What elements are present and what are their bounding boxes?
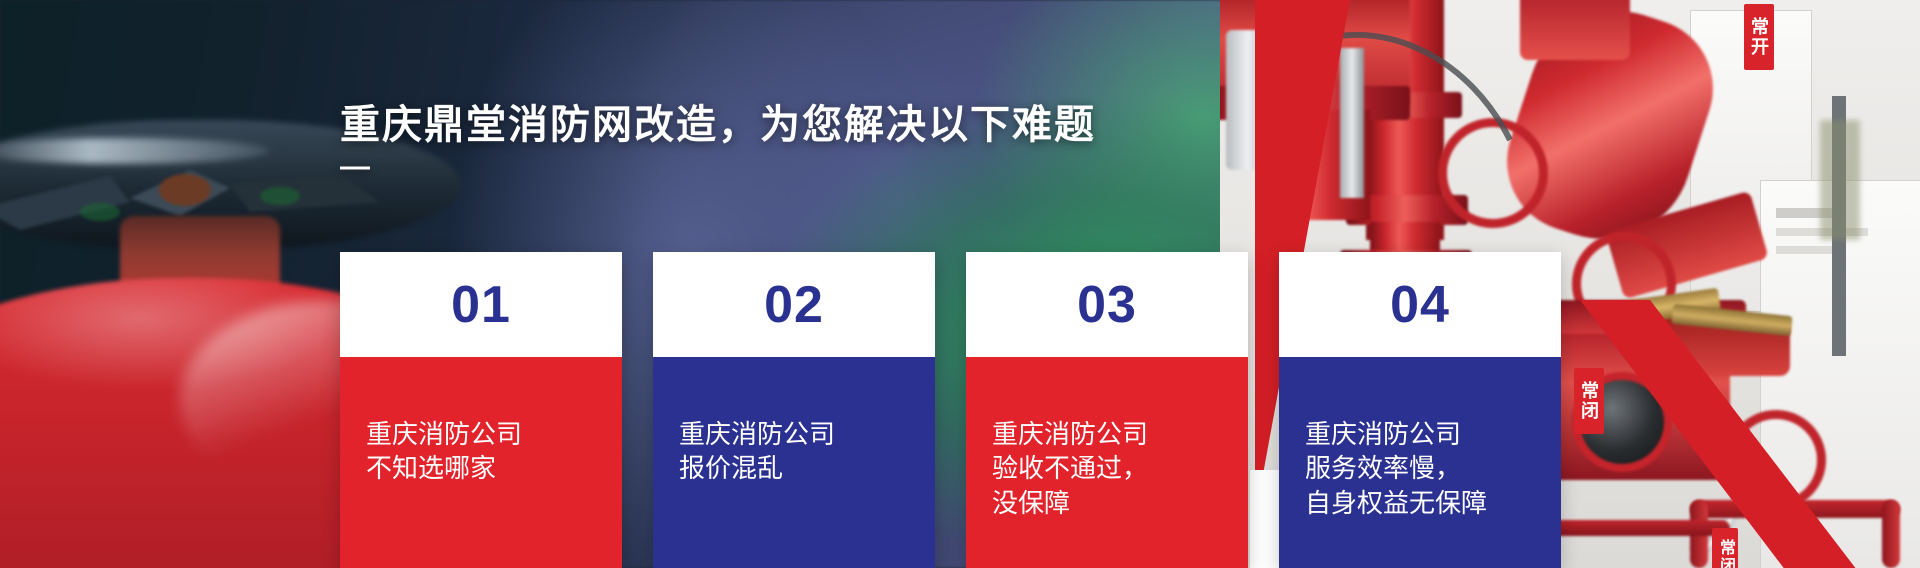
problem-card-list: 01 重庆消防公司 不知选哪家 02 重庆消防公司 报价混乱 03 重庆消防公司… [340, 252, 1580, 568]
card-line: 没保障 [992, 486, 1222, 520]
card-line: 验收不通过， [992, 451, 1222, 485]
tag-normally-open: 常开 [1744, 4, 1774, 70]
problem-card-03[interactable]: 03 重庆消防公司 验收不通过， 没保障 [966, 252, 1248, 568]
conduit-wire [1310, 20, 1530, 180]
tag-normally-closed-2: 常闭 [1712, 528, 1738, 568]
card-number-01: 01 [340, 252, 622, 357]
tag-normally-closed: 常闭 [1574, 368, 1604, 434]
promo-banner: 常开 常开 常闭 常闭 重庆鼎堂消防网改造，为您解决以下难题 — 01 重庆消防… [0, 0, 1920, 568]
card-line: 重庆消防公司 [992, 417, 1222, 451]
card-line: 重庆消防公司 [366, 417, 596, 451]
card-number-02: 02 [653, 252, 935, 357]
card-body-03: 重庆消防公司 验收不通过， 没保障 [966, 357, 1248, 568]
pipe-rail-leg [1882, 500, 1900, 568]
card-body-04: 重庆消防公司 服务效率慢， 自身权益无保障 [1279, 357, 1561, 568]
strainer-top-flange [1520, 0, 1630, 60]
card-line: 自身权益无保障 [1305, 486, 1535, 520]
card-body-01: 重庆消防公司 不知选哪家 [340, 357, 622, 568]
problem-card-04[interactable]: 04 重庆消防公司 服务效率慢， 自身权益无保障 [1279, 252, 1561, 568]
card-line: 重庆消防公司 [679, 417, 909, 451]
card-number-04: 04 [1279, 252, 1561, 357]
card-body-02: 重庆消防公司 报价混乱 [653, 357, 935, 568]
title-underline-dash: — [340, 150, 370, 184]
page-title: 重庆鼎堂消防网改造，为您解决以下难题 [340, 92, 1096, 150]
wall-smudge [1820, 120, 1860, 240]
card-number-03: 03 [966, 252, 1248, 357]
problem-card-01[interactable]: 01 重庆消防公司 不知选哪家 [340, 252, 622, 568]
problem-card-02[interactable]: 02 重庆消防公司 报价混乱 [653, 252, 935, 568]
card-line: 报价混乱 [679, 451, 909, 485]
card-line: 不知选哪家 [366, 451, 596, 485]
card-line: 重庆消防公司 [1305, 417, 1535, 451]
card-line: 服务效率慢， [1305, 451, 1535, 485]
